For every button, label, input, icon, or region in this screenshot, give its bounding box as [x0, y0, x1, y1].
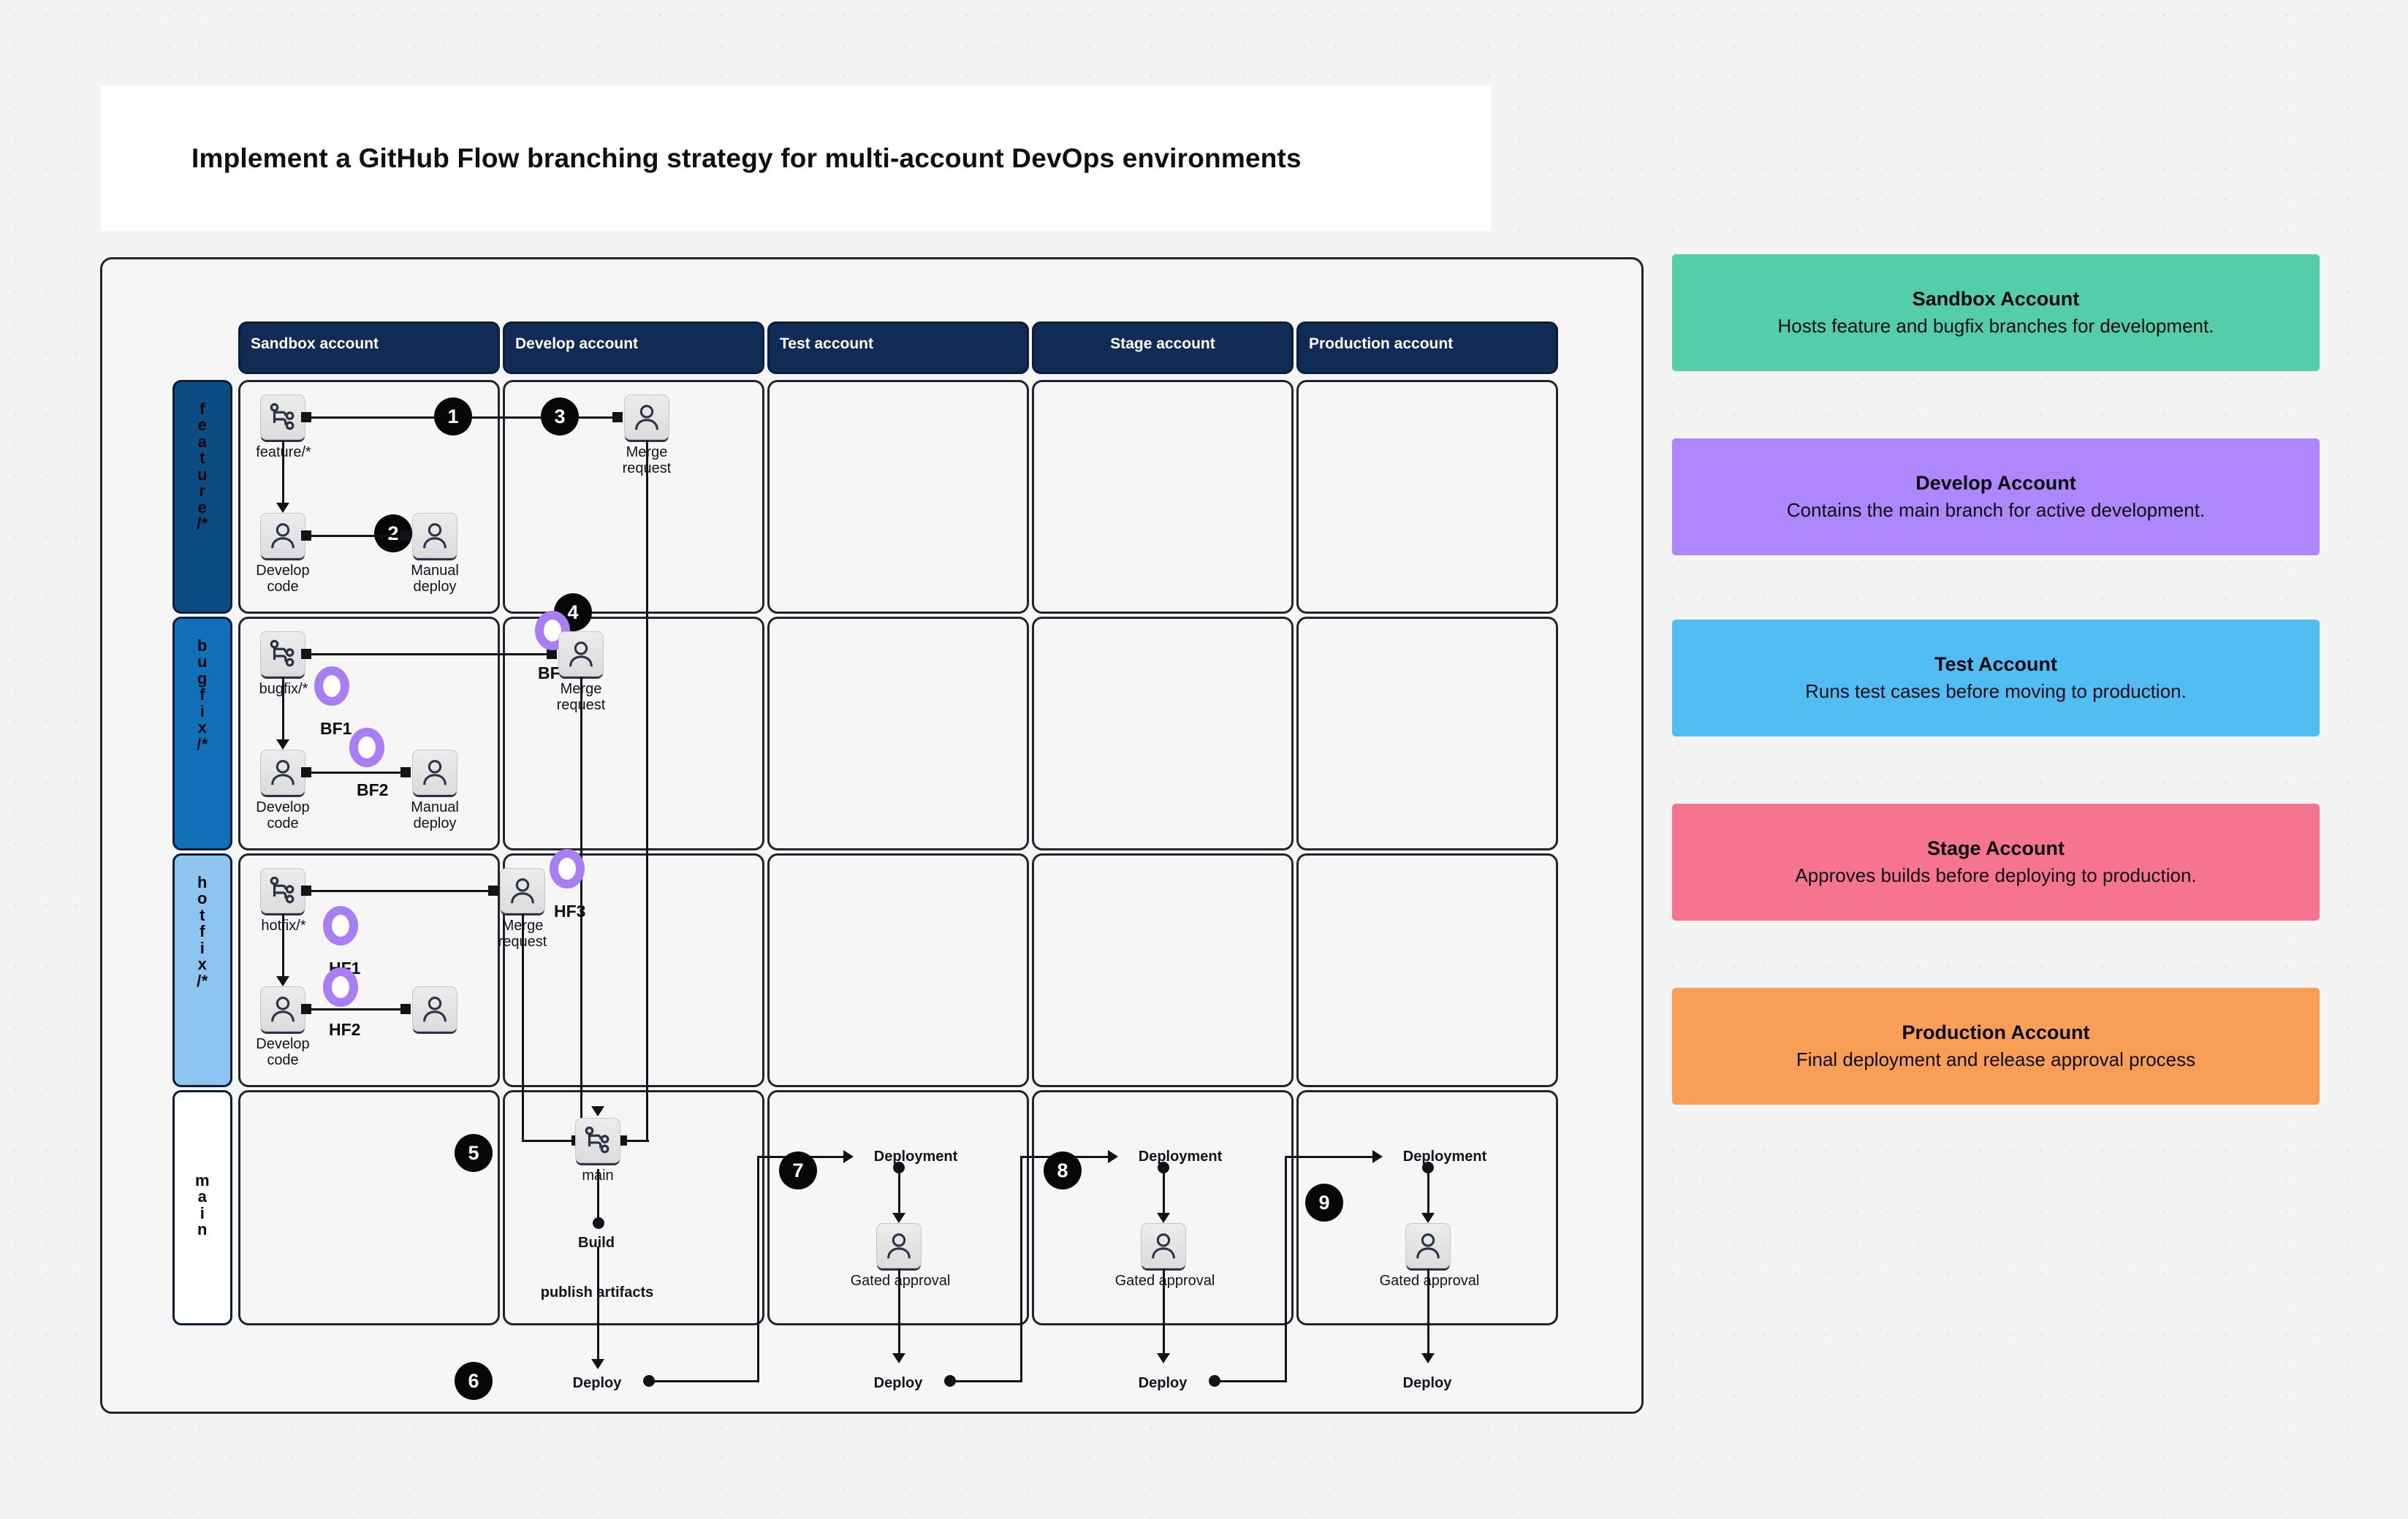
merge-request-icon[interactable] [624, 395, 669, 440]
legend-card-production[interactable]: Production Account Final deployment and … [1672, 988, 2320, 1105]
connector [282, 440, 284, 506]
connector-endpoint [301, 530, 311, 541]
connector [597, 1246, 599, 1363]
connector [1163, 1268, 1165, 1358]
legend-title: Test Account [1934, 653, 2057, 676]
main-branch-icon[interactable] [575, 1118, 620, 1163]
legend-title: Develop Account [1915, 472, 2076, 495]
connector-endpoint [301, 649, 311, 659]
connector [282, 677, 284, 742]
develop-code-icon[interactable] [260, 986, 305, 1032]
legend-desc: Hosts feature and bugfix branches for de… [1778, 315, 2214, 338]
connector [898, 1268, 900, 1358]
manual-deploy-icon[interactable] [412, 750, 457, 795]
marker-label-bf1: BF1 [320, 719, 352, 739]
node-label-build: Build [560, 1235, 633, 1251]
connector [1215, 1380, 1286, 1382]
connector-arrow [892, 1213, 905, 1223]
connector [1163, 1168, 1165, 1217]
connector-endpoint [488, 886, 498, 896]
page-title: Implement a GitHub Flow branching strate… [101, 143, 1302, 174]
node-label-deploy-stage: Deploy [1124, 1375, 1201, 1391]
cell-bugfix-develop [503, 617, 764, 850]
badge-3[interactable]: 3 [541, 397, 579, 435]
connector [305, 772, 403, 774]
node-label-manual-deploy-2: Manualdeploy [392, 799, 478, 832]
connector-arrow [1108, 1150, 1118, 1163]
legend-card-sandbox[interactable]: Sandbox Account Hosts feature and bugfix… [1672, 254, 2320, 371]
column-header-sandbox[interactable]: Sandbox account [238, 321, 500, 374]
connector [649, 1380, 759, 1382]
cell-bugfix-production [1296, 617, 1558, 850]
column-header-label: Sandbox account [251, 335, 379, 353]
connector-arrow [1372, 1150, 1383, 1163]
connector [757, 1156, 759, 1382]
connector-endpoint [400, 530, 411, 541]
connector [305, 535, 403, 537]
connector-arrow [1421, 1213, 1435, 1223]
column-header-label: Develop account [515, 335, 638, 353]
connector-main-feed [522, 913, 524, 1141]
cell-feature-production [1296, 380, 1558, 614]
marker-label-bf2: BF2 [357, 780, 388, 800]
connector-arrow [276, 739, 289, 750]
connector-main-feed [646, 440, 648, 1141]
connector-arrow [276, 976, 289, 986]
connector [1285, 1156, 1287, 1382]
cell-feature-stage [1032, 380, 1294, 614]
node-label-develop-code-3: Developcode [240, 1036, 326, 1069]
badge-8[interactable]: 8 [1044, 1151, 1082, 1189]
row-label-hotfix[interactable]: ho tf ix /* [172, 853, 232, 1087]
badge-1[interactable]: 1 [434, 397, 472, 435]
cell-hotfix-stage [1032, 853, 1294, 1087]
legend-desc: Contains the main branch for active deve… [1787, 499, 2205, 522]
connector [1427, 1168, 1429, 1217]
row-label-feature[interactable]: fe at ur e/* [172, 380, 232, 614]
cell-hotfix-test [767, 853, 1029, 1087]
connector-endpoint [612, 412, 623, 422]
connector [305, 890, 491, 892]
develop-code-icon[interactable] [260, 750, 305, 795]
git-branch-icon[interactable] [260, 868, 305, 913]
column-header-test[interactable]: Test account [767, 321, 1029, 374]
badge-7[interactable]: 7 [779, 1151, 817, 1189]
cell-hotfix-production [1296, 853, 1558, 1087]
connector-endpoint [301, 412, 311, 422]
connector [898, 1168, 900, 1217]
node-label-gated-approval-prod: Gated approval [1365, 1273, 1494, 1289]
diagram-canvas: Implement a GitHub Flow branching strate… [0, 0, 2408, 1519]
legend-card-test[interactable]: Test Account Runs test cases before movi… [1672, 620, 2320, 736]
node-label-deploy-test: Deploy [859, 1375, 937, 1391]
connector-endpoint [400, 767, 411, 777]
legend-title: Sandbox Account [1913, 288, 2080, 311]
node-label-deployment-test: Deployment [854, 1149, 978, 1165]
marker-label-hf2: HF2 [329, 1020, 360, 1040]
connector-endpoint [301, 1004, 311, 1014]
git-branch-icon[interactable] [260, 631, 305, 677]
node-label-manual-deploy-1: Manualdeploy [392, 563, 478, 595]
connector-arrow [892, 1353, 905, 1363]
connector-endpoint [301, 886, 311, 896]
node-label-deployment-stage: Deployment [1118, 1149, 1242, 1165]
connector [1427, 1268, 1429, 1358]
merge-request-icon[interactable] [500, 868, 545, 913]
git-branch-icon[interactable] [260, 395, 305, 440]
connector-arrow [1157, 1353, 1170, 1363]
connector-dot [593, 1217, 604, 1229]
connector-arrow [591, 1359, 604, 1369]
row-label-main[interactable]: ma in [172, 1090, 232, 1325]
connector-arrow [843, 1150, 854, 1163]
badge-9[interactable]: 9 [1305, 1184, 1343, 1222]
connector [305, 1008, 403, 1010]
legend-title: Stage Account [1927, 837, 2065, 860]
manual-deploy-icon[interactable] [412, 986, 457, 1032]
connector [1020, 1156, 1022, 1382]
node-label-deploy-develop: Deploy [558, 1375, 636, 1391]
node-label-develop-code-2: Developcode [240, 799, 326, 832]
node-label-gated-approval-test: Gated approval [836, 1273, 965, 1289]
legend-title: Production Account [1902, 1021, 2090, 1044]
cell-feature-test [767, 380, 1029, 614]
title-card: Implement a GitHub Flow branching strate… [101, 86, 1491, 231]
gated-approval-icon[interactable] [876, 1223, 922, 1268]
column-header-production[interactable]: Production account [1296, 321, 1558, 374]
marker-ring-bf2[interactable] [349, 728, 384, 767]
badge-5[interactable]: 5 [455, 1134, 493, 1172]
column-header-label: Production account [1309, 335, 1453, 353]
connector [950, 1380, 1022, 1382]
connector-arrow [1421, 1353, 1435, 1363]
badge-6[interactable]: 6 [455, 1362, 493, 1400]
merge-request-icon[interactable] [558, 631, 604, 677]
legend-card-stage[interactable]: Stage Account Approves builds before dep… [1672, 804, 2320, 921]
marker-ring-hf3[interactable] [550, 849, 585, 888]
connector-arrow [1157, 1213, 1170, 1223]
connector-arrow [591, 1106, 604, 1116]
node-label-publish-artifacts: publish artifacts [503, 1284, 691, 1301]
node-label-gated-approval-stage: Gated approval [1101, 1273, 1229, 1289]
develop-code-icon[interactable] [260, 513, 305, 558]
cell-bugfix-stage [1032, 617, 1294, 850]
connector [282, 913, 284, 979]
cell-bugfix-test [767, 617, 1029, 850]
cell-main-sandbox [238, 1090, 500, 1325]
node-label-deploy-prod: Deploy [1389, 1375, 1466, 1391]
legend-desc: Runs test cases before moving to product… [1805, 680, 2187, 703]
gated-approval-icon[interactable] [1405, 1223, 1451, 1268]
connector-endpoint [547, 649, 557, 659]
legend-desc: Approves builds before deploying to prod… [1795, 864, 2196, 887]
node-label-develop-code-1: Developcode [240, 563, 326, 595]
gated-approval-icon[interactable] [1141, 1223, 1186, 1268]
marker-ring-hf2[interactable] [323, 967, 358, 1007]
column-header-stage[interactable]: Stage account [1032, 321, 1294, 374]
node-label-deployment-prod: Deployment [1383, 1149, 1507, 1165]
manual-deploy-icon[interactable] [412, 513, 457, 558]
marker-ring-bf1[interactable] [314, 666, 349, 706]
row-label-bugfix[interactable]: bu gf ix /* [172, 617, 232, 850]
connector-endpoint [400, 1004, 411, 1014]
connector [522, 1140, 576, 1142]
connector [1286, 1156, 1374, 1158]
column-header-develop[interactable]: Develop account [503, 321, 764, 374]
legend-desc: Final deployment and release approval pr… [1796, 1048, 2195, 1071]
connector-endpoint [301, 767, 311, 777]
connector-arrow [276, 503, 289, 513]
column-header-label: Stage account [1110, 335, 1215, 353]
legend-card-develop[interactable]: Develop Account Contains the main branch… [1672, 438, 2320, 555]
connector [305, 653, 550, 655]
column-header-label: Test account [780, 335, 873, 353]
marker-ring-hf1[interactable] [323, 906, 358, 945]
marker-label-hf3: HF3 [554, 902, 585, 921]
